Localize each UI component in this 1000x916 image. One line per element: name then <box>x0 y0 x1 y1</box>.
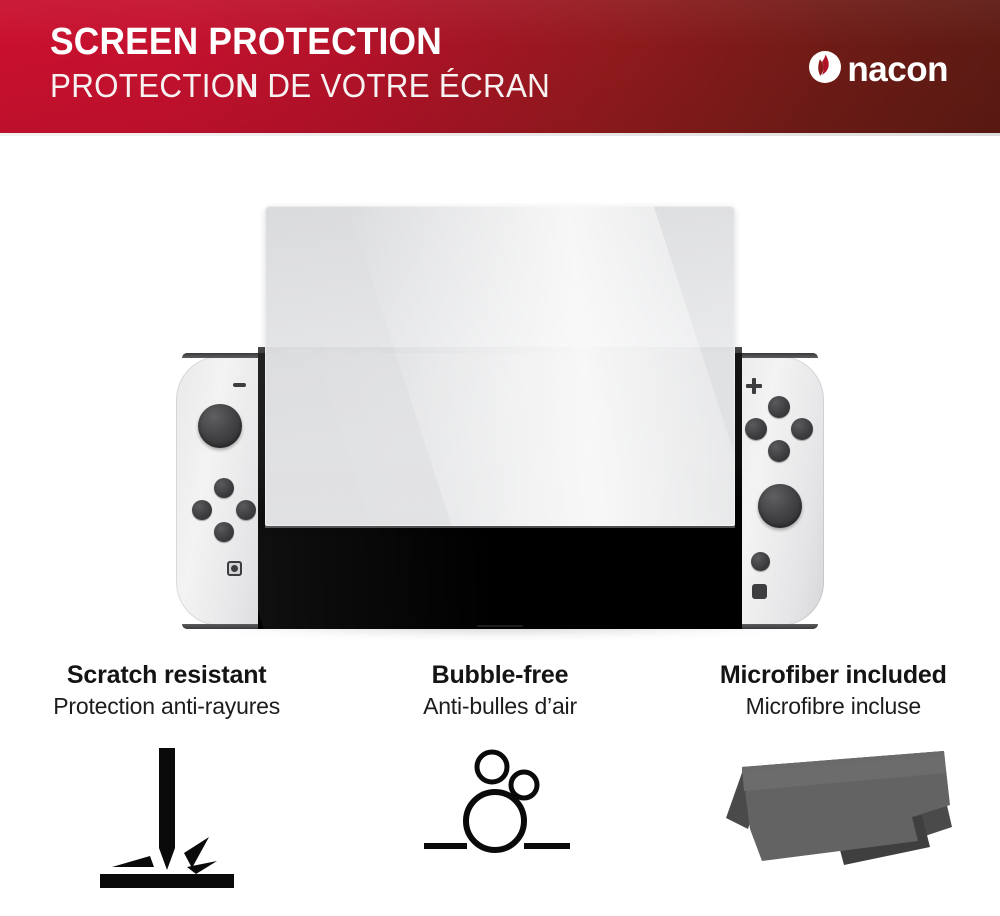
plus-button-icon[interactable] <box>746 378 762 394</box>
header-title-block: SCREEN PROTECTION PROTECTION DE VOTRE ÉC… <box>50 20 576 106</box>
dpad-up-button[interactable] <box>214 478 234 498</box>
hero-product-image <box>0 136 1000 656</box>
bubbles-icon <box>420 743 580 893</box>
b-button[interactable] <box>768 440 790 462</box>
page-subtitle-post: DE VOTRE ÉCRAN <box>258 67 550 104</box>
feature-bubble-free: Bubble-free Anti-bulles d’air <box>333 660 666 916</box>
feature-subtitle: Protection anti-rayures <box>53 691 280 721</box>
nacon-logo: nacon <box>808 50 948 89</box>
feature-scratch-resistant: Scratch resistant Protection anti-rayure… <box>0 660 333 916</box>
feature-title: Bubble-free <box>432 660 569 690</box>
nacon-emblem-icon <box>808 50 842 89</box>
feature-subtitle: Anti-bulles d’air <box>423 691 577 721</box>
right-joycon <box>728 356 824 626</box>
left-analog-stick[interactable] <box>198 404 242 448</box>
page-subtitle-pre: PROTECTIO <box>50 67 235 104</box>
header-banner: SCREEN PROTECTION PROTECTION DE VOTRE ÉC… <box>0 0 1000 133</box>
a-button[interactable] <box>791 418 813 440</box>
dpad-right-button[interactable] <box>236 500 256 520</box>
x-button[interactable] <box>768 396 790 418</box>
feature-microfiber-included: Microfiber included Microfibre incluse <box>667 660 1000 916</box>
minus-button-icon[interactable] <box>233 383 246 387</box>
capture-button-dot <box>231 565 238 572</box>
protector-bottom-edge <box>265 526 735 528</box>
nacon-wordmark: nacon <box>847 52 948 87</box>
dpad-down-button[interactable] <box>214 522 234 542</box>
y-button[interactable] <box>745 418 767 440</box>
page-subtitle: PROTECTION DE VOTRE ÉCRAN <box>50 66 550 106</box>
feature-title: Microfiber included <box>720 660 947 690</box>
protector-glare <box>336 206 735 526</box>
right-analog-stick[interactable] <box>758 484 802 528</box>
microfiber-cloth-icon <box>708 743 958 893</box>
features-row: Scratch resistant Protection anti-rayure… <box>0 660 1000 916</box>
speaker-grille <box>477 625 523 627</box>
dpad-left-button[interactable] <box>192 500 212 520</box>
impact-spike-icon <box>92 743 242 893</box>
home-button[interactable] <box>751 552 770 571</box>
feature-subtitle: Microfibre incluse <box>746 691 921 721</box>
screenshot-square-button[interactable] <box>752 584 767 599</box>
page-title: SCREEN PROTECTION <box>50 20 540 64</box>
page-subtitle-accent: N <box>235 67 258 104</box>
feature-title: Scratch resistant <box>67 660 266 690</box>
nintendo-switch-oled-console <box>170 181 830 646</box>
capture-button-icon[interactable] <box>227 561 242 576</box>
tempered-glass-screen-protector <box>265 206 735 526</box>
